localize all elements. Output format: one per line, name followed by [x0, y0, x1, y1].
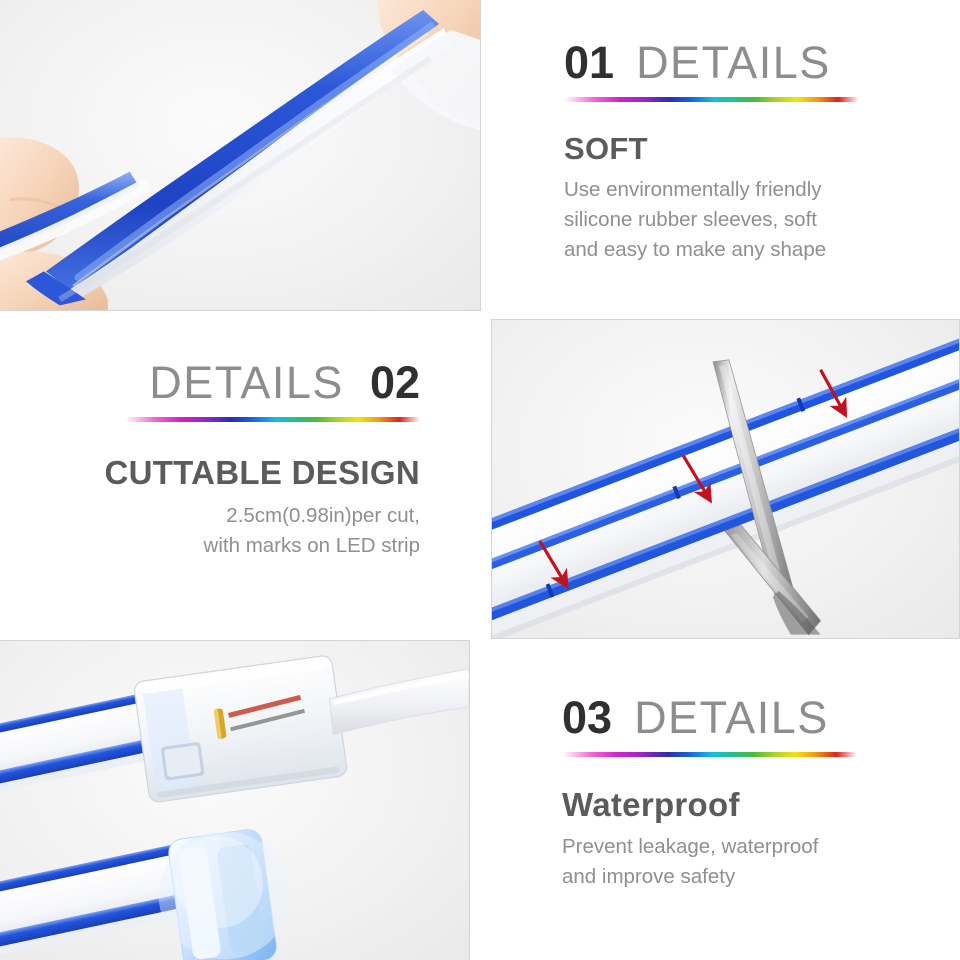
section-03-kicker: 03 DETAILS [562, 695, 920, 740]
waterproof-connector-photo [0, 640, 470, 960]
infographic-page: 01 DETAILS SOFT Use environmentally frie… [0, 0, 960, 960]
twisted-strip-illustration [0, 0, 480, 310]
section-03-word: DETAILS [634, 695, 829, 740]
section-03-title: Waterproof [562, 787, 920, 823]
rainbow-divider [564, 97, 859, 102]
twisted-silicone-strip-photo [0, 0, 481, 311]
section-02-body: 2.5cm(0.98in)per cut, with marks on LED … [40, 501, 420, 560]
body-line: silicone rubber sleeves, soft [564, 205, 920, 235]
section-01-text: 01 DETAILS SOFT Use environmentally frie… [492, 0, 960, 311]
section-03-body: Prevent leakage, waterproof and improve … [562, 832, 920, 891]
section-02-number: 02 [370, 360, 420, 405]
body-line: Prevent leakage, waterproof [562, 832, 920, 862]
section-01-word: DETAILS [636, 40, 831, 85]
section-01-number: 01 [564, 40, 614, 85]
section-03-text: 03 DETAILS Waterproof Prevent leakage, w… [490, 640, 960, 960]
body-line: and improve safety [562, 862, 920, 892]
body-line: Use environmentally friendly [564, 175, 920, 205]
section-02-title: CUTTABLE DESIGN [40, 455, 420, 491]
section-01-kicker: 01 DETAILS [564, 40, 920, 85]
section-02-kicker: DETAILS 02 [40, 360, 420, 405]
scissors-cutting-strip-photo [491, 319, 960, 639]
cut-marks-illustration [492, 320, 959, 639]
body-line: 2.5cm(0.98in)per cut, [40, 501, 420, 531]
section-01-title: SOFT [564, 132, 920, 166]
section-01-body: Use environmentally friendly silicone ru… [564, 175, 920, 264]
body-line: and easy to make any shape [564, 235, 920, 265]
body-line: with marks on LED strip [40, 531, 420, 561]
connector-illustration [0, 641, 469, 960]
section-02-text: DETAILS 02 CUTTABLE DESIGN 2.5cm(0.98in)… [0, 320, 480, 638]
rainbow-divider [125, 417, 420, 422]
section-03-number: 03 [562, 695, 612, 740]
rainbow-divider [562, 752, 857, 757]
section-02-word: DETAILS [149, 360, 344, 405]
